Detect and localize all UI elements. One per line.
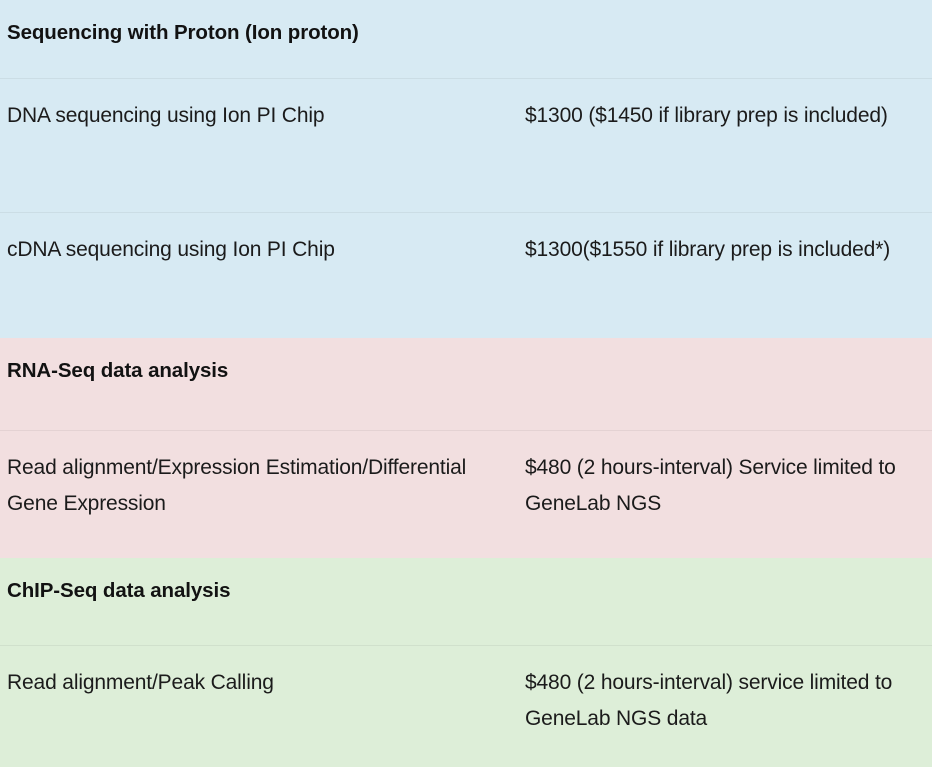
section-title: Sequencing with Proton (Ion proton) — [7, 19, 503, 47]
section-header-spacer-cell — [525, 577, 932, 578]
service-name: DNA sequencing using Ion PI Chip — [7, 98, 503, 134]
row-divider — [0, 78, 932, 79]
price-cell: $1300 ($1450 if library prep is included… — [525, 98, 932, 134]
section-header-chip-seq-data-analysis: ChIP-Seq data analysis — [0, 558, 932, 645]
service-cell: Read alignment/Expression Estimation/Dif… — [0, 450, 525, 522]
service-cell: Read alignment/Peak Calling — [0, 665, 525, 701]
price-cell: $480 (2 hours-interval) Service limited … — [525, 450, 932, 522]
service-name: Read alignment/Peak Calling — [7, 665, 503, 701]
row-divider — [0, 645, 932, 646]
section-title: ChIP-Seq data analysis — [7, 577, 503, 605]
table-row[interactable]: Read alignment/Peak Calling $480 (2 hour… — [0, 645, 932, 767]
section-header-sequencing-with-proton: Sequencing with Proton (Ion proton) — [0, 0, 932, 78]
price-cell: $1300($1550 if library prep is included*… — [525, 232, 932, 268]
section-header-spacer-cell — [525, 357, 932, 358]
price-value: $1300($1550 if library prep is included*… — [525, 232, 914, 268]
table-row[interactable]: DNA sequencing using Ion PI Chip $1300 (… — [0, 78, 932, 212]
section-header-rna-seq-data-analysis: RNA-Seq data analysis — [0, 338, 932, 430]
service-cell: cDNA sequencing using Ion PI Chip — [0, 232, 525, 268]
section-title: RNA-Seq data analysis — [7, 357, 503, 385]
price-value: $1300 ($1450 if library prep is included… — [525, 98, 914, 134]
section-header-empty — [525, 357, 914, 358]
section-header-spacer-cell — [525, 19, 932, 20]
section-header-empty — [525, 577, 914, 578]
service-cell: DNA sequencing using Ion PI Chip — [0, 98, 525, 134]
table-row[interactable]: cDNA sequencing using Ion PI Chip $1300(… — [0, 212, 932, 338]
section-title-cell: ChIP-Seq data analysis — [0, 577, 525, 605]
price-value: $480 (2 hours-interval) service limited … — [525, 665, 914, 737]
service-name: cDNA sequencing using Ion PI Chip — [7, 232, 503, 268]
section-title-cell: Sequencing with Proton (Ion proton) — [0, 19, 525, 47]
section-title-cell: RNA-Seq data analysis — [0, 357, 525, 385]
row-divider — [0, 212, 932, 213]
table-row[interactable]: Read alignment/Expression Estimation/Dif… — [0, 430, 932, 558]
price-cell: $480 (2 hours-interval) service limited … — [525, 665, 932, 737]
service-name: Read alignment/Expression Estimation/Dif… — [7, 450, 503, 522]
row-divider — [0, 430, 932, 431]
section-header-empty — [525, 19, 914, 20]
price-value: $480 (2 hours-interval) Service limited … — [525, 450, 914, 522]
pricing-table: Sequencing with Proton (Ion proton) DNA … — [0, 0, 932, 767]
